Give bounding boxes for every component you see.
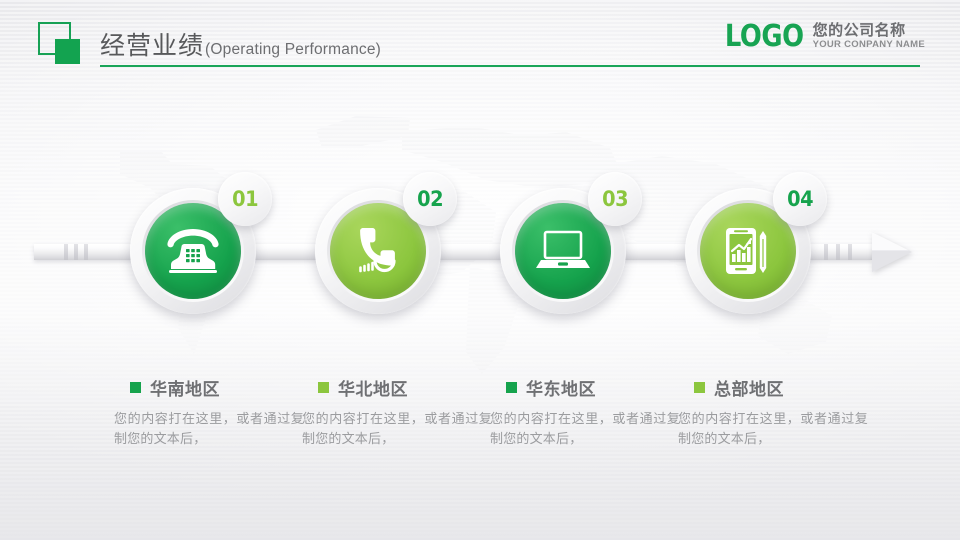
process-node-03[interactable]: 03: [500, 188, 626, 314]
caption-title-03: 华东地区: [526, 375, 596, 400]
caption-body-02: 您的内容打在这里，或者通过复制您的文本后，: [302, 409, 492, 449]
timeline-notch: [836, 244, 840, 260]
timeline-notch: [64, 244, 68, 260]
brand-name-cn: 您的公司名称: [813, 23, 925, 39]
slide-header: 经营业绩 (Operating Performance) LOGO 您的公司名称…: [0, 0, 960, 80]
caption-header-02: 华北地区: [318, 375, 492, 400]
node-number-04: 04: [787, 187, 813, 211]
timeline-notch: [74, 244, 78, 260]
node-number-02: 02: [417, 187, 443, 211]
caption-header-01: 华南地区: [130, 375, 304, 400]
nested-squares-icon: [38, 22, 86, 64]
desk-telephone-icon: [166, 227, 220, 275]
page-title-en: (Operating Performance): [205, 41, 381, 59]
caption-body-03: 您的内容打在这里，或者通过复制您的文本后，: [490, 409, 680, 449]
square-bullet-icon: [506, 382, 517, 393]
mobile-chart-stylus-icon: [722, 225, 774, 277]
node-badge-01: 01: [218, 172, 272, 226]
node-number-01: 01: [232, 187, 258, 211]
brand-block: LOGO 您的公司名称 YOUR CONPANY NAME: [712, 22, 925, 52]
node-number-03: 03: [602, 187, 628, 211]
header-divider: [100, 65, 920, 67]
process-node-02[interactable]: 02: [315, 188, 441, 314]
caption-block-03: 华东地区 您的内容打在这里，或者通过复制您的文本后，: [490, 375, 680, 449]
caption-block-04: 总部地区 您的内容打在这里，或者通过复制您的文本后，: [678, 375, 868, 449]
process-node-04[interactable]: 04: [685, 188, 811, 314]
laptop-icon: [535, 229, 591, 273]
caption-body-01: 您的内容打在这里，或者通过复制您的文本后，: [114, 409, 304, 449]
timeline-notch: [824, 244, 828, 260]
caption-body-04: 您的内容打在这里，或者通过复制您的文本后，: [678, 409, 868, 449]
caption-header-03: 华东地区: [506, 375, 680, 400]
timeline-notch: [848, 244, 852, 260]
caption-block-01: 华南地区 您的内容打在这里，或者通过复制您的文本后，: [114, 375, 304, 449]
node-badge-02: 02: [403, 172, 457, 226]
page-title: 经营业绩 (Operating Performance): [100, 26, 381, 62]
caption-title-02: 华北地区: [338, 375, 408, 400]
brand-name-block: 您的公司名称 YOUR CONPANY NAME: [813, 23, 925, 50]
slide-canvas: 经营业绩 (Operating Performance) LOGO 您的公司名称…: [0, 0, 960, 540]
square-bullet-icon: [694, 382, 705, 393]
caption-title-01: 华南地区: [150, 375, 220, 400]
caption-title-04: 总部地区: [714, 375, 784, 400]
brand-logo-text: LOGO: [725, 22, 804, 52]
caption-header-04: 总部地区: [694, 375, 868, 400]
node-badge-04: 04: [773, 172, 827, 226]
process-node-01[interactable]: 01: [130, 188, 256, 314]
phone-handset-signal-icon: [350, 223, 406, 279]
square-bullet-icon: [318, 382, 329, 393]
node-badge-03: 03: [588, 172, 642, 226]
page-title-cn: 经营业绩: [100, 26, 204, 62]
caption-block-02: 华北地区 您的内容打在这里，或者通过复制您的文本后，: [302, 375, 492, 449]
square-bullet-icon: [130, 382, 141, 393]
brand-name-en: YOUR CONPANY NAME: [813, 40, 925, 50]
square-filled-shape: [55, 39, 80, 64]
timeline-notch: [84, 244, 88, 260]
